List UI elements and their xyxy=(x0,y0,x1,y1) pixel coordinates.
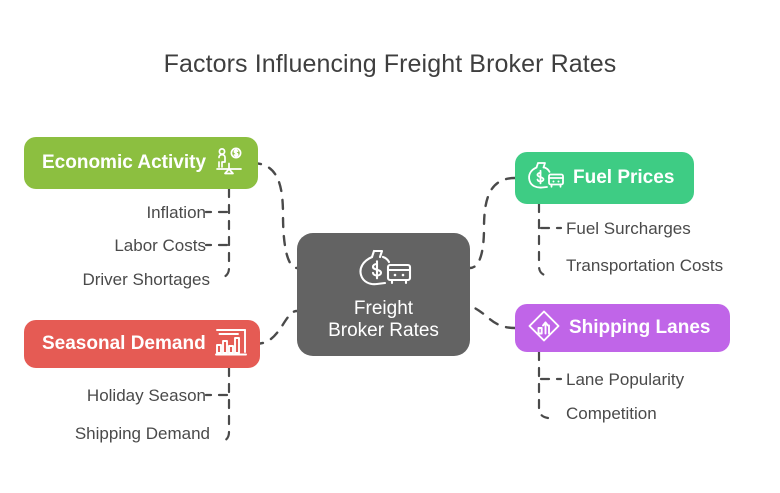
wire-center-fuel xyxy=(470,178,515,268)
leaf-labor-costs: Labor Costs xyxy=(114,236,206,256)
wire-center-economic xyxy=(252,163,297,268)
money-bag-truck-icon xyxy=(527,160,565,197)
branch-label-economic-activity: Economic Activity xyxy=(42,152,206,174)
leaf-transportation-costs: Transportation Costs xyxy=(566,256,723,276)
wire-center-seasonal xyxy=(254,311,297,344)
center-node-label: FreightBroker Rates xyxy=(328,298,439,343)
center-node-label-line1: Freight xyxy=(354,298,413,319)
wire-center-lanes xyxy=(470,307,515,328)
branch-node-shipping-lanes[interactable]: Shipping Lanes xyxy=(515,304,730,352)
leaf-competition: Competition xyxy=(566,404,657,424)
leaf-holiday-season: Holiday Season xyxy=(87,386,206,406)
bar-chart-icon xyxy=(214,326,248,363)
wire-fuel-spine xyxy=(539,204,548,276)
money-bag-truck-icon xyxy=(355,247,413,292)
leaf-inflation: Inflation xyxy=(146,203,206,223)
wire-economic-spine xyxy=(220,189,229,278)
balance-scale-person-money-icon xyxy=(214,146,244,181)
page-title: Factors Influencing Freight Broker Rates xyxy=(0,50,780,79)
leaf-lane-popularity: Lane Popularity xyxy=(566,370,684,390)
center-node-freight-broker-rates[interactable]: FreightBroker Rates xyxy=(297,233,470,356)
branch-node-fuel-prices[interactable]: Fuel Prices xyxy=(515,152,694,204)
leaf-fuel-surcharges: Fuel Surcharges xyxy=(566,219,691,239)
diamond-bar-chart-icon xyxy=(527,309,561,348)
branch-node-economic-activity[interactable]: Economic Activity xyxy=(24,137,258,189)
branch-label-shipping-lanes: Shipping Lanes xyxy=(569,317,710,339)
leaf-shipping-demand: Shipping Demand xyxy=(75,424,210,444)
mindmap-canvas: Factors Influencing Freight Broker Rates xyxy=(0,0,780,493)
wire-lanes-spine xyxy=(539,352,548,418)
center-node-label-line2: Broker Rates xyxy=(328,320,439,341)
branch-node-seasonal-demand[interactable]: Seasonal Demand xyxy=(24,320,260,368)
wire-seasonal-spine xyxy=(220,368,229,442)
branch-label-seasonal-demand: Seasonal Demand xyxy=(42,333,206,355)
branch-label-fuel-prices: Fuel Prices xyxy=(573,167,674,189)
leaf-driver-shortages: Driver Shortages xyxy=(82,270,210,290)
